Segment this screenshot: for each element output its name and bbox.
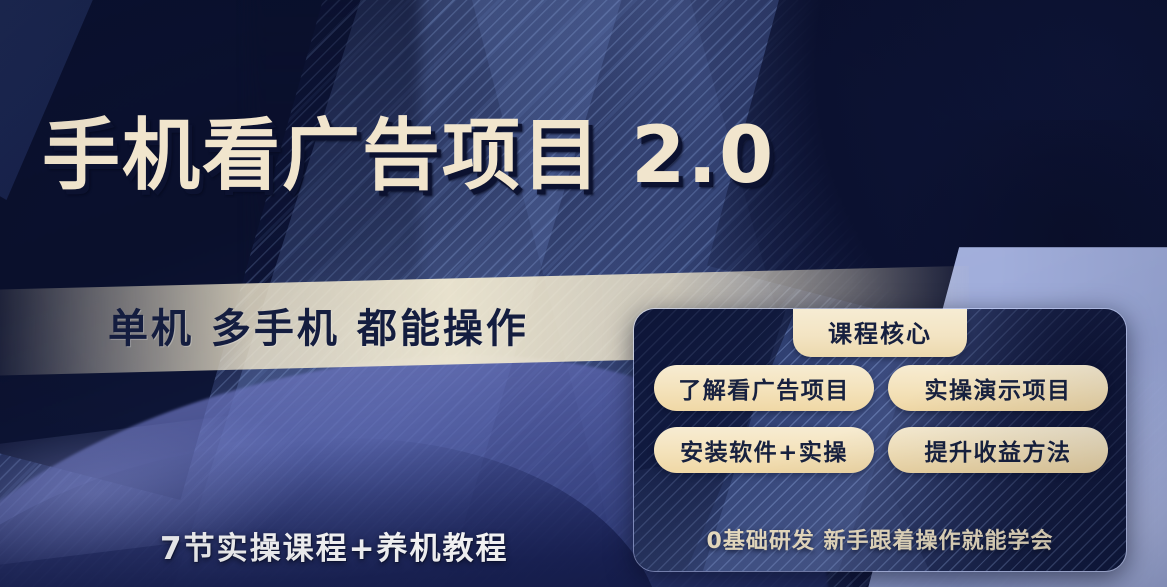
card-footer-text: 0基础研发 新手跟着操作就能学会	[634, 523, 1126, 555]
promo-poster: 手机看广告项目 2.0 单机 多手机 都能操作 7节实操课程+养机教程 课程核心…	[0, 0, 1167, 587]
feature-pill[interactable]: 了解看广告项目	[654, 365, 874, 411]
subtitle-text: 单机 多手机 都能操作	[108, 296, 529, 354]
card-header-badge: 课程核心	[793, 309, 967, 357]
course-count-text: 7节实操课程+养机教程	[160, 523, 509, 568]
feature-pill[interactable]: 实操演示项目	[888, 365, 1108, 411]
feature-pill-grid: 了解看广告项目 实操演示项目 安装软件+实操 提升收益方法	[654, 365, 1108, 473]
feature-pill[interactable]: 安装软件+实操	[654, 427, 874, 473]
course-core-card: 课程核心 了解看广告项目 实操演示项目 安装软件+实操 提升收益方法 0基础研发…	[633, 308, 1127, 572]
feature-pill[interactable]: 提升收益方法	[888, 427, 1108, 473]
page-title: 手机看广告项目 2.0	[42, 117, 775, 195]
